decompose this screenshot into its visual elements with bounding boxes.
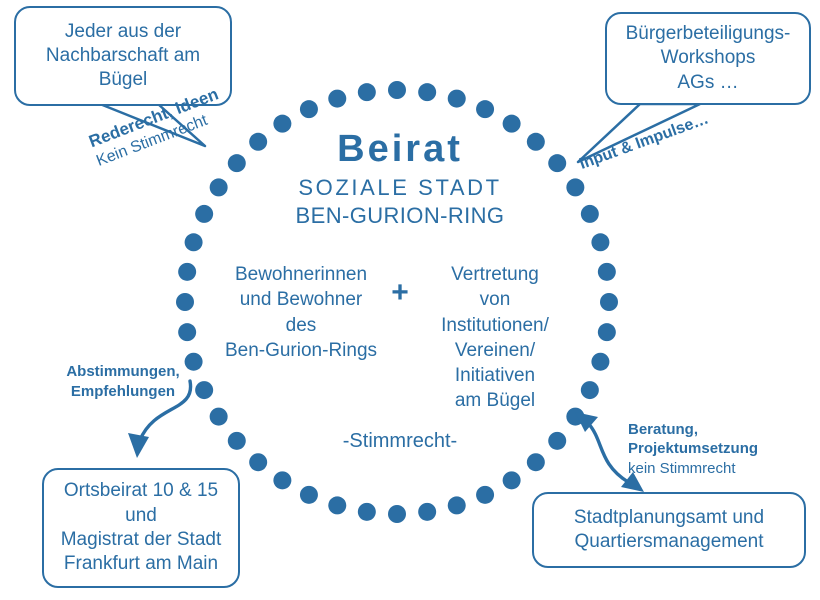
box-stadtplanungsamt-quartiersmanagement[interactable]: Stadtplanungsamt und Quartiersmanagement	[532, 492, 806, 568]
ring-dot	[195, 205, 213, 223]
ring-dot	[178, 263, 196, 281]
ring-dot	[249, 453, 267, 471]
group-residents: Bewohnerinnen und Bewohner des Ben-Gurio…	[212, 262, 390, 363]
ring-dot	[448, 496, 466, 514]
ring-dot	[600, 293, 618, 311]
ring-dot	[178, 323, 196, 341]
ring-dot	[210, 178, 228, 196]
ring-dot	[503, 471, 521, 489]
ring-dot	[228, 154, 246, 172]
label-beratung-projektumsetzung: Beratung, Projektumsetzung kein Stimmrec…	[628, 400, 808, 498]
ring-dot	[581, 205, 599, 223]
label-abstimmungen-empfehlungen: Abstimmungen, Empfehlungen	[48, 362, 198, 401]
ring-dot	[228, 432, 246, 450]
ring-dot	[300, 100, 318, 118]
page-subtitle: SOZIALE STADT	[260, 175, 540, 201]
page-title: Beirat	[260, 128, 540, 171]
ring-dot	[176, 293, 194, 311]
ring-dot	[358, 503, 376, 521]
ring-dot	[591, 353, 609, 371]
label-input-impulse: Input & Impulse…	[577, 109, 712, 175]
ring-dot	[273, 471, 291, 489]
ring-dot	[476, 486, 494, 504]
ring-dot	[388, 505, 406, 523]
ring-dot	[591, 233, 609, 251]
ring-dot	[566, 178, 584, 196]
ring-dot	[581, 381, 599, 399]
box-ortsbeirat-magistrat[interactable]: Ortsbeirat 10 & 15 und Magistrat der Sta…	[42, 468, 240, 588]
ring-dot	[527, 453, 545, 471]
ring-dot	[548, 432, 566, 450]
bubble-citizen-participation-label: Bürgerbeteiligungs- Workshops AGs …	[626, 22, 791, 95]
ring-dot	[300, 486, 318, 504]
box-stadtplanungsamt-quartiersmanagement-label: Stadtplanungsamt und Quartiersmanagement	[574, 506, 764, 555]
group-institutions: Vertretung von Institutionen/ Vereinen/ …	[415, 262, 575, 414]
ring-dot	[328, 90, 346, 108]
ring-dot	[548, 154, 566, 172]
arrow-beratung-line	[588, 423, 628, 482]
ring-dot	[598, 323, 616, 341]
ring-dot	[476, 100, 494, 118]
ring-dot	[358, 83, 376, 101]
voting-rights-note: -Stimmrecht-	[310, 430, 490, 453]
ring-dot	[210, 408, 228, 426]
ring-dot	[418, 83, 436, 101]
plus-icon: +	[386, 278, 414, 308]
ring-dot	[448, 90, 466, 108]
ring-dot	[388, 81, 406, 99]
ring-dot	[418, 503, 436, 521]
arrow-abstimmungen-head	[128, 433, 149, 458]
page-subtitle-secondary: BEN-GURION-RING	[260, 203, 540, 229]
ring-dot	[328, 496, 346, 514]
label-beratung-secondary: kein Stimmrecht	[628, 459, 808, 479]
label-beratung-primary: Beratung, Projektumsetzung	[628, 421, 758, 458]
box-ortsbeirat-magistrat-label: Ortsbeirat 10 & 15 und Magistrat der Sta…	[61, 479, 222, 576]
ring-dot	[185, 233, 203, 251]
diagram-canvas: Beirat SOZIALE STADT BEN-GURION-RING Bew…	[0, 0, 820, 600]
bubble-citizen-participation[interactable]: Bürgerbeteiligungs- Workshops AGs …	[605, 12, 811, 105]
arrow-beratung-head-up	[575, 412, 598, 432]
ring-dot	[598, 263, 616, 281]
